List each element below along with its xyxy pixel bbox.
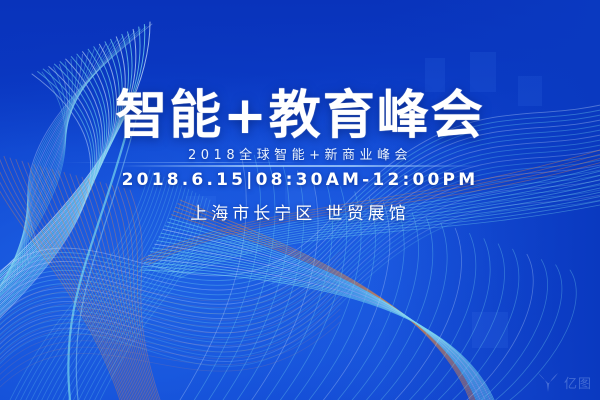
- event-datetime: 2018.6.15|08:30AM-12:00PM: [0, 169, 600, 191]
- event-venue: 上海市长宁区 世贸展馆: [0, 203, 600, 225]
- poster-text-block: 智能+教育峰会 2018全球智能+新商业峰会 2018.6.15|08:30AM…: [0, 0, 600, 400]
- page-title: 智能+教育峰会: [0, 88, 600, 144]
- watermark-label: 亿图: [564, 373, 592, 392]
- watermark: 亿图: [535, 370, 592, 394]
- watermark-logo-icon: [535, 370, 561, 394]
- event-poster: 智能+教育峰会 2018全球智能+新商业峰会 2018.6.15|08:30AM…: [0, 0, 600, 400]
- poster-subtitle: 2018全球智能+新商业峰会: [0, 148, 600, 164]
